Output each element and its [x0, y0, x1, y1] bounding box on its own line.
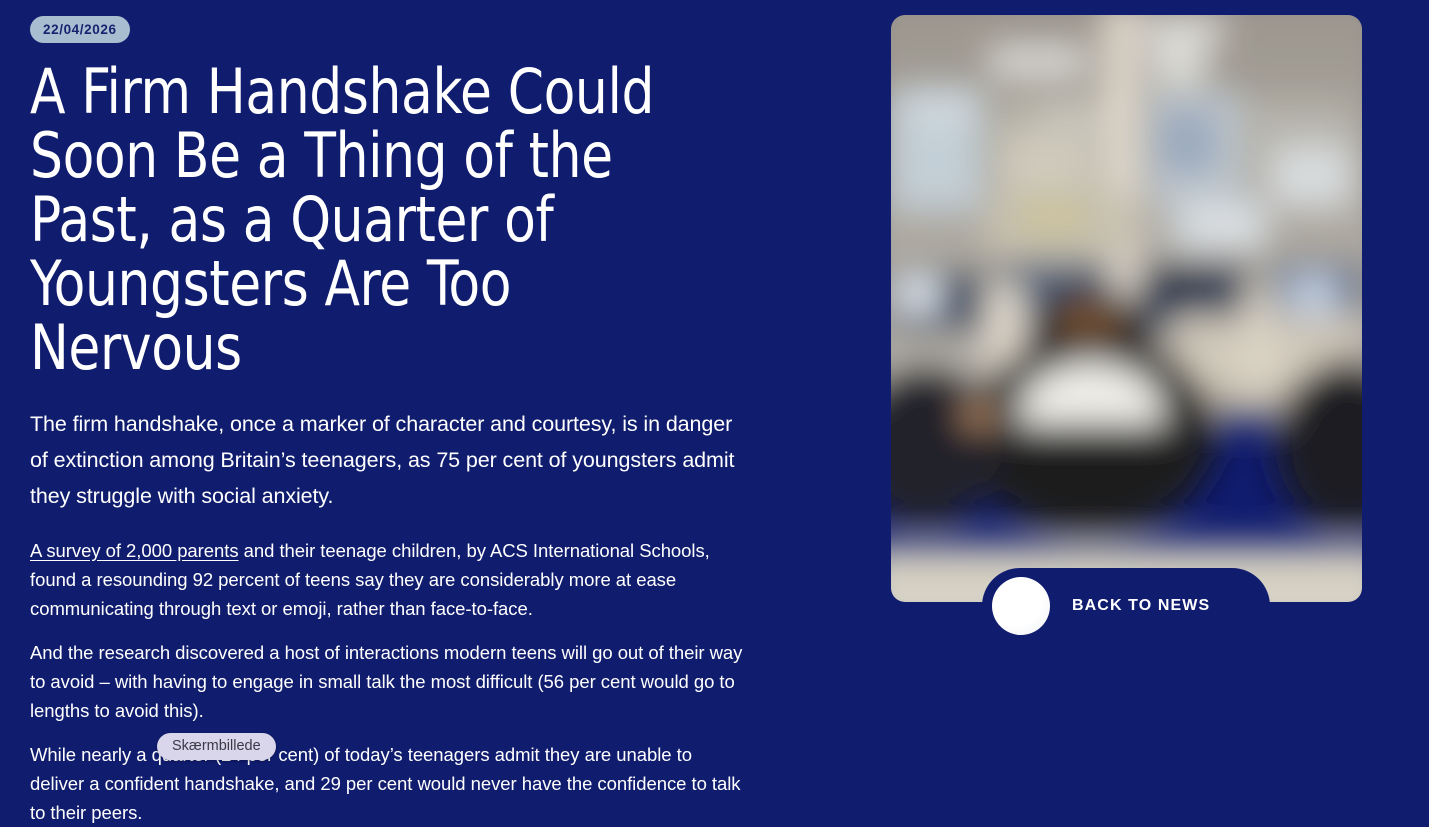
page-title: A Firm Handshake Could Soon Be a Thing o…	[30, 60, 718, 380]
blurred-classroom-photo	[891, 15, 1362, 602]
paragraph-3-text: While nearly a quarter (24 per cent) of …	[30, 744, 741, 823]
lead-paragraph: The firm handshake, once a marker of cha…	[30, 406, 745, 514]
arrow-left-circle-icon	[992, 577, 1050, 635]
article-body: The firm handshake, once a marker of cha…	[30, 406, 745, 827]
paragraph-2: And the research discovered a host of in…	[30, 638, 745, 725]
paragraph-3: While nearly a quarter (24 per cent) of …	[30, 740, 745, 827]
paragraph-2-text: And the research discovered a host of in…	[30, 642, 742, 721]
article-hero-image	[891, 15, 1362, 602]
back-to-news-label: BACK TO NEWS	[1072, 597, 1210, 615]
survey-link[interactable]: A survey of 2,000 parents	[30, 540, 239, 561]
paragraph-1: A survey of 2,000 parents and their teen…	[30, 536, 745, 623]
screenshot-tooltip: Skærmbillede	[157, 733, 276, 760]
back-to-news-button[interactable]: BACK TO NEWS	[982, 568, 1270, 643]
article-column: 22/04/2026 A Firm Handshake Could Soon B…	[30, 0, 790, 760]
publish-date-badge: 22/04/2026	[30, 16, 130, 43]
